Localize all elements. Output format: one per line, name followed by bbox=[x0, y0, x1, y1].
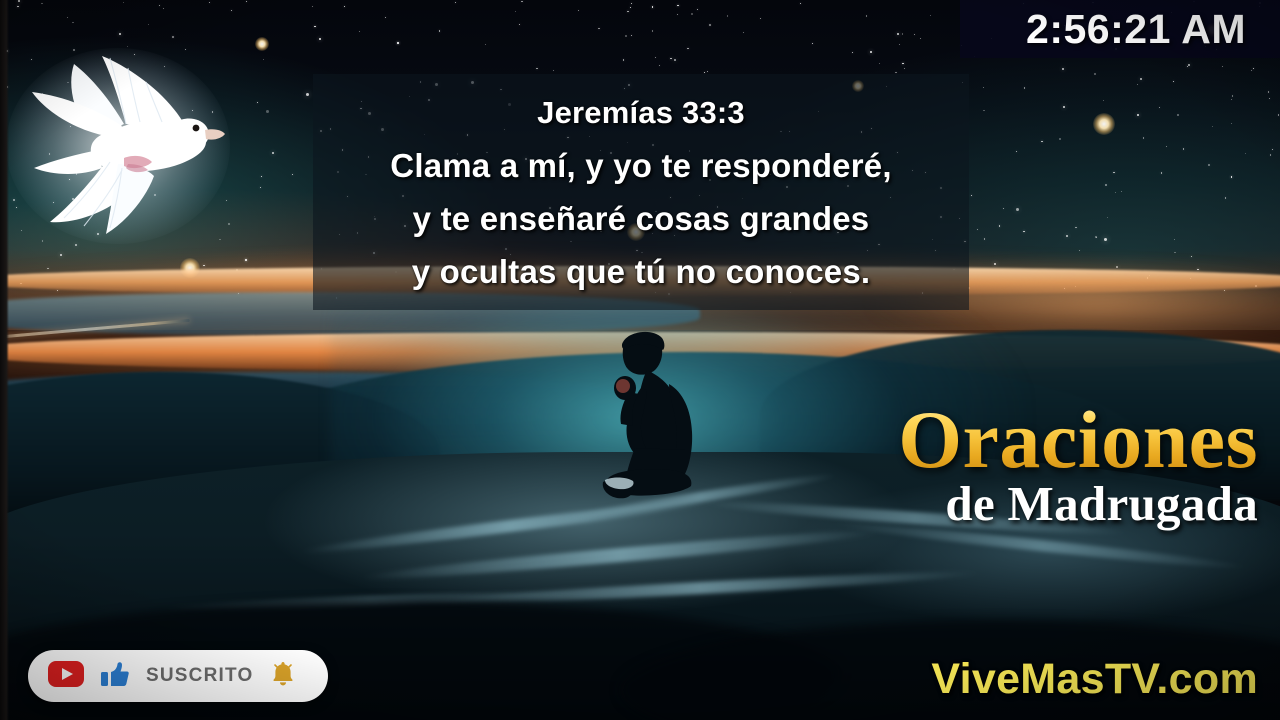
verse-line-3: y ocultas que tú no conoces. bbox=[412, 245, 871, 298]
brand-title: Oraciones bbox=[898, 398, 1258, 482]
verse-reference: Jeremías 33:3 bbox=[537, 86, 745, 139]
brand-subtitle: de Madrugada bbox=[898, 478, 1258, 530]
white-dove-icon bbox=[6, 38, 236, 253]
subscribe-label: SUSCRITO bbox=[146, 665, 253, 687]
verse-line-2: y te enseñaré cosas grandes bbox=[413, 192, 870, 245]
verse-line-1: Clama a mí, y yo te responderé, bbox=[390, 139, 891, 192]
thumbs-up-icon[interactable] bbox=[101, 661, 129, 692]
notification-bell-icon[interactable] bbox=[270, 660, 296, 692]
website-url: ViveMasTV.com bbox=[931, 655, 1258, 704]
clock-time: 2:56:21 AM bbox=[1026, 6, 1246, 53]
verse-text-block: Jeremías 33:3 Clama a mí, y yo te respon… bbox=[313, 74, 969, 310]
kneeling-praying-person bbox=[585, 330, 720, 520]
channel-branding: Oraciones de Madrugada bbox=[898, 398, 1258, 530]
subscribe-bar[interactable]: SUSCRITO bbox=[28, 650, 328, 702]
left-frame-edge bbox=[0, 0, 9, 720]
youtube-play-icon[interactable] bbox=[48, 661, 84, 692]
video-frame: Jeremías 33:3 Clama a mí, y yo te respon… bbox=[0, 0, 1280, 720]
